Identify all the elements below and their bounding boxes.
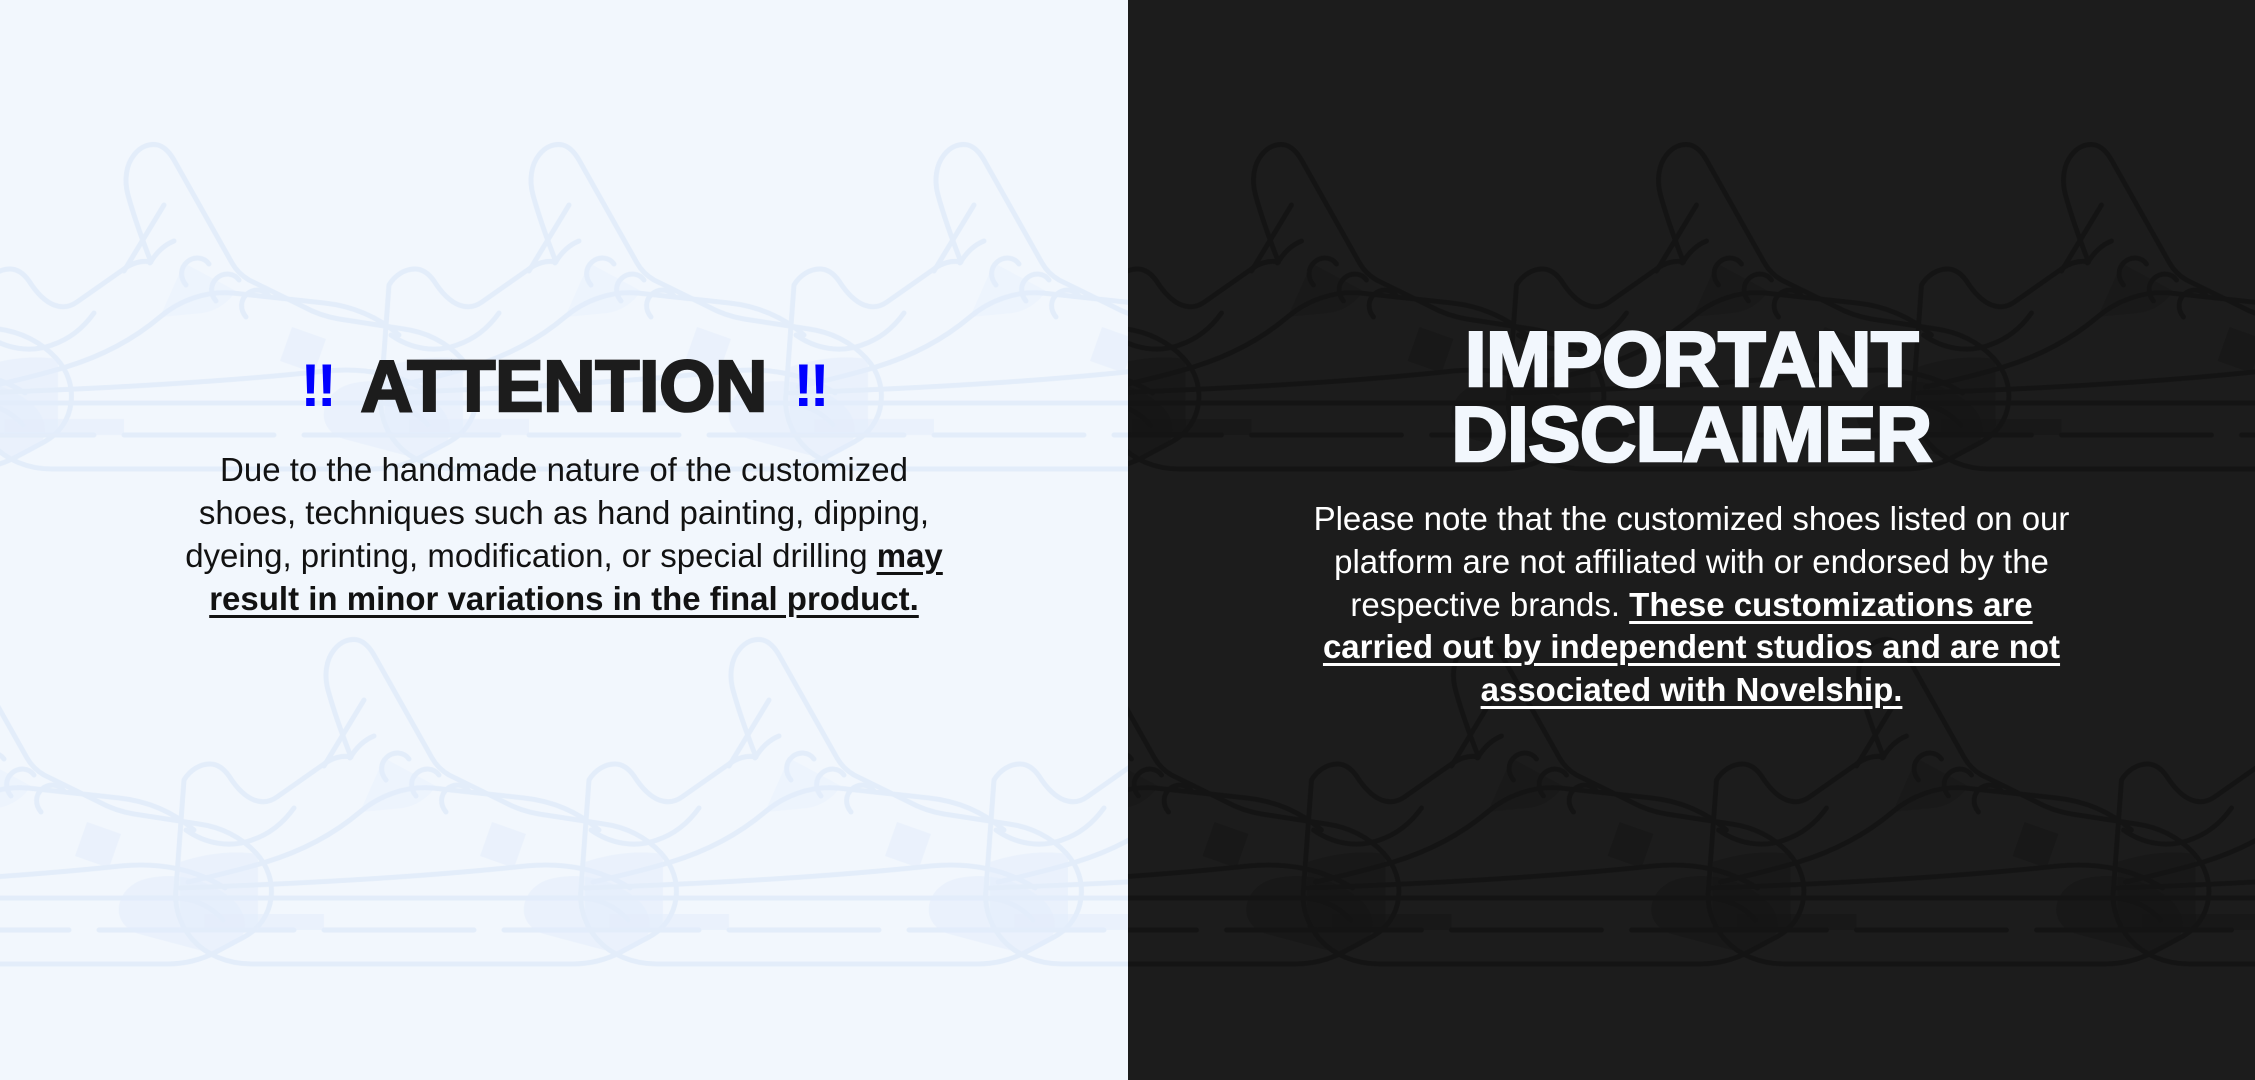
attention-panel: ‼ ATTENTION ‼ Due to the handmade nature… [0,0,1128,1080]
double-exclamation-trailing-icon: ‼ [793,356,827,416]
double-exclamation-leading-icon: ‼ [300,356,334,416]
attention-heading: ‼ ATTENTION ‼ [300,352,827,423]
disclaimer-heading: IMPORTANT DISCLAIMER [1451,322,1931,472]
disclaimer-content: IMPORTANT DISCLAIMER Please note that th… [1128,0,2255,712]
disclaimer-body: Please note that the customized shoes li… [1292,498,2092,712]
disclaimer-banner: ‼ ATTENTION ‼ Due to the handmade nature… [0,0,2255,1080]
attention-heading-text: ATTENTION [361,352,768,423]
disclaimer-panel: IMPORTANT DISCLAIMER Please note that th… [1128,0,2255,1080]
disclaimer-heading-line2: DISCLAIMER [1451,390,1931,478]
attention-body: Due to the handmade nature of the custom… [169,449,959,621]
attention-content: ‼ ATTENTION ‼ Due to the handmade nature… [0,0,1128,621]
attention-body-normal: Due to the handmade nature of the custom… [185,451,929,574]
